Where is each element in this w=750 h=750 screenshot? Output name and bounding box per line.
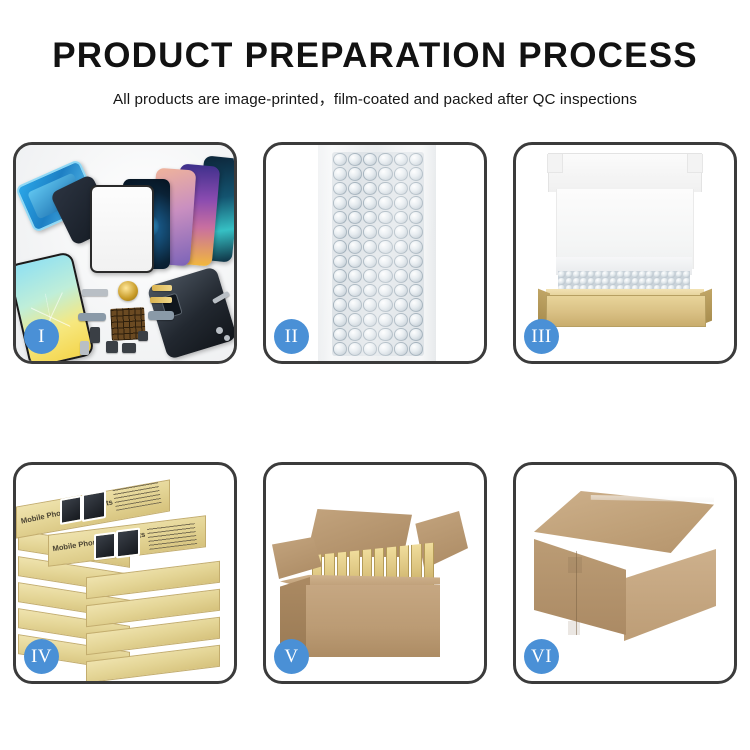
bubble [683, 278, 690, 284]
bubble [333, 313, 347, 327]
bubble [409, 255, 423, 269]
bubble [333, 284, 347, 298]
bubble [409, 225, 423, 239]
bubble [348, 269, 362, 283]
bubble [363, 240, 377, 254]
bubble [588, 271, 595, 277]
page-subtitle: All products are image-printed，film-coat… [0, 76, 750, 109]
bubble [394, 328, 408, 342]
bubble [363, 284, 377, 298]
bubble [580, 278, 587, 284]
bubble [595, 271, 602, 277]
carton-flap-mark [568, 621, 580, 635]
bubble [394, 182, 408, 196]
bubble [348, 196, 362, 210]
bubble [394, 298, 408, 312]
step-badge: V [274, 639, 309, 674]
bubble [394, 255, 408, 269]
bubble [348, 342, 362, 356]
sealed-carton-front-face [534, 539, 626, 635]
spare-part [80, 341, 89, 355]
bubble [394, 269, 408, 283]
bubble [378, 153, 392, 167]
spare-part [106, 341, 118, 353]
page-header: PRODUCT PREPARATION PROCESS All products… [0, 0, 750, 109]
step-panel-2: II [263, 142, 487, 364]
bubble [363, 153, 377, 167]
bubble [409, 153, 423, 167]
step-panel-3: III [513, 142, 737, 364]
sealed-carton-right-face [624, 549, 716, 641]
bubble [409, 167, 423, 181]
step-panel-4: Mobile Phone Spare Parts Mobile Phone Sp… [13, 462, 237, 684]
bubble [409, 182, 423, 196]
bubble [348, 284, 362, 298]
spare-part [150, 297, 172, 303]
box-window-right [116, 528, 140, 559]
bubble [378, 313, 392, 327]
bubble [378, 211, 392, 225]
bubble [409, 211, 423, 225]
bubble [378, 284, 392, 298]
box-window-left [60, 495, 82, 525]
bubble [409, 313, 423, 327]
bubble [378, 225, 392, 239]
bubble [363, 196, 377, 210]
carton-flap-mark [568, 557, 582, 573]
bubble [668, 278, 675, 284]
bubble [558, 271, 565, 277]
step-badge: III [524, 319, 559, 354]
bubble [378, 298, 392, 312]
bubble [624, 271, 631, 277]
bubble-wrap-pad [332, 152, 424, 356]
bubble [632, 278, 639, 284]
step-badge: VI [524, 639, 559, 674]
bubble [661, 278, 668, 284]
bubble [333, 240, 347, 254]
bubble [348, 182, 362, 196]
bubble [580, 271, 587, 277]
bubble [573, 271, 580, 277]
bubble [348, 313, 362, 327]
step-badge: II [274, 319, 309, 354]
carton-front-face [306, 585, 440, 657]
bubble [348, 240, 362, 254]
bubble [617, 278, 624, 284]
bubble [333, 225, 347, 239]
spare-part [152, 285, 172, 291]
bubble [409, 298, 423, 312]
bubble [378, 182, 392, 196]
bubble [639, 278, 646, 284]
bubble [394, 313, 408, 327]
bubble [363, 328, 377, 342]
bubble [394, 211, 408, 225]
step-badge: IV [24, 639, 59, 674]
product-preparation-page: PRODUCT PREPARATION PROCESS All products… [0, 0, 750, 750]
bubble [602, 271, 609, 277]
bubble [333, 342, 347, 356]
bubble [639, 271, 646, 277]
spare-part [90, 327, 100, 343]
bubble [676, 271, 683, 277]
spare-part [148, 311, 174, 320]
spare-part [122, 343, 136, 353]
bubble [409, 240, 423, 254]
bubble [348, 298, 362, 312]
bubble [348, 167, 362, 181]
gold-coil-part [118, 281, 138, 301]
bubble [654, 271, 661, 277]
bubble [566, 271, 573, 277]
bubble [348, 225, 362, 239]
bubble [378, 342, 392, 356]
bubble [654, 278, 661, 284]
bubble [394, 167, 408, 181]
bubble [617, 271, 624, 277]
bubble [409, 269, 423, 283]
white-front-glass [90, 185, 154, 273]
step-panel-1: I [13, 142, 237, 364]
bubble [333, 298, 347, 312]
bubble [394, 342, 408, 356]
bubble [363, 269, 377, 283]
bubble [573, 278, 580, 284]
spare-part [216, 327, 223, 334]
bubble [333, 196, 347, 210]
spare-part [138, 331, 148, 341]
bubble [363, 255, 377, 269]
bubble [333, 269, 347, 283]
box-window-right [82, 490, 106, 522]
bubble [668, 271, 675, 277]
bubble [624, 278, 631, 284]
bubble [676, 278, 683, 284]
bubble [394, 153, 408, 167]
bubble [566, 278, 573, 284]
bubble [363, 211, 377, 225]
spare-part [78, 313, 106, 321]
bubble [378, 269, 392, 283]
bubble [363, 342, 377, 356]
bubble [646, 278, 653, 284]
bubble [394, 240, 408, 254]
bubble [394, 196, 408, 210]
bubble [683, 271, 690, 277]
bubble [394, 225, 408, 239]
bubble [558, 278, 565, 284]
bubble [348, 153, 362, 167]
bubble [363, 167, 377, 181]
bubble [409, 328, 423, 342]
step-badge: I [24, 319, 59, 354]
bubble [378, 196, 392, 210]
bubble [409, 342, 423, 356]
bubble [348, 255, 362, 269]
plastic-film-sleeve [318, 145, 436, 361]
bubble [348, 211, 362, 225]
bubble [595, 278, 602, 284]
bubble [333, 211, 347, 225]
bubble [632, 271, 639, 277]
bubble [588, 278, 595, 284]
bubble [610, 271, 617, 277]
bubble [610, 278, 617, 284]
bubble-grid [332, 152, 424, 356]
spare-part [224, 335, 230, 341]
bubble [333, 328, 347, 342]
bubble [378, 328, 392, 342]
bubble [378, 255, 392, 269]
bubble [378, 167, 392, 181]
bubble [333, 255, 347, 269]
bubble [363, 298, 377, 312]
bubble [333, 153, 347, 167]
bubble [333, 182, 347, 196]
bubble [646, 271, 653, 277]
bubble [363, 225, 377, 239]
bubble [378, 240, 392, 254]
box-window-left [94, 532, 116, 561]
bubble [661, 271, 668, 277]
process-steps-grid: I II [13, 142, 737, 736]
bubble [409, 284, 423, 298]
spare-part [82, 289, 108, 296]
bubble [363, 182, 377, 196]
page-title: PRODUCT PREPARATION PROCESS [0, 0, 750, 76]
kraft-box-front-face [546, 295, 706, 327]
bubble [348, 328, 362, 342]
bubble [409, 196, 423, 210]
step-panel-5: V [263, 462, 487, 684]
bubble [602, 278, 609, 284]
bubble [394, 284, 408, 298]
white-box-lid [548, 153, 702, 192]
bubble [333, 167, 347, 181]
step-panel-6: VI [513, 462, 737, 684]
bubble [363, 313, 377, 327]
